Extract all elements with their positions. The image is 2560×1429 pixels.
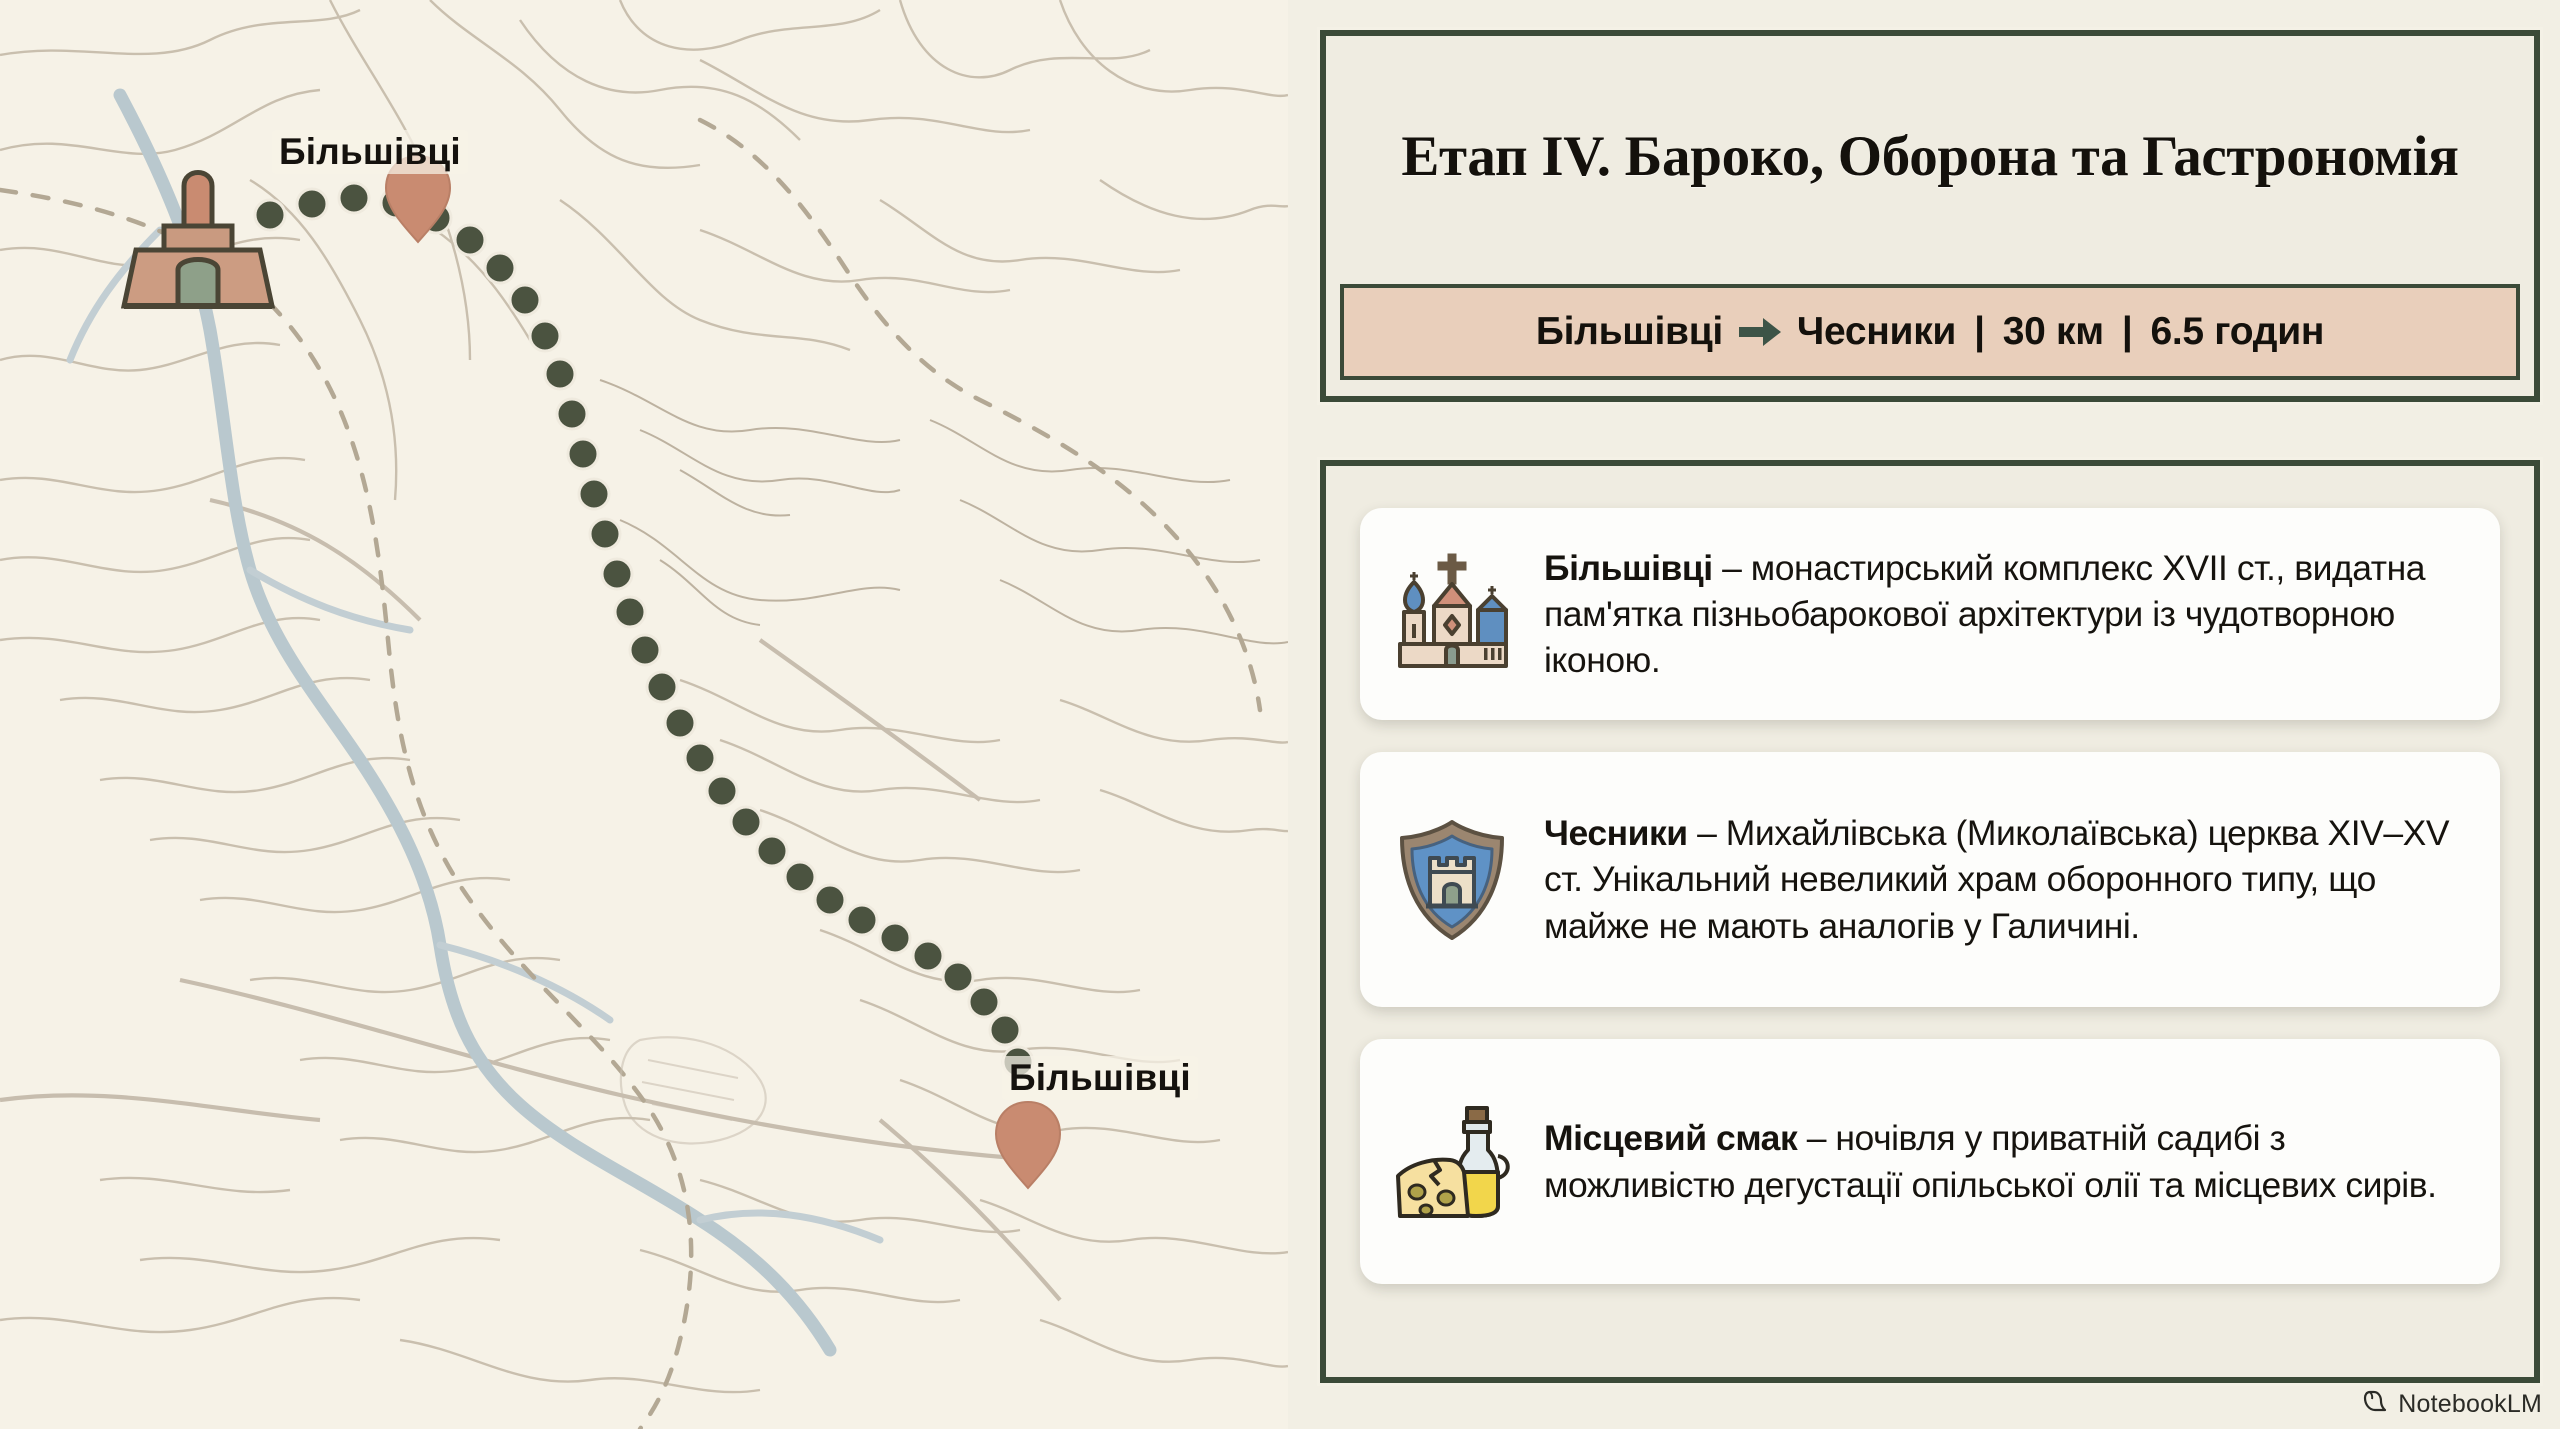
route-separator-1: | (1970, 310, 1989, 354)
highlight-card-lead: Чесники (1544, 813, 1688, 853)
highlight-card-text: Більшівці – монастирський комплекс XVII … (1544, 545, 2470, 683)
title-zone: Етап IV. Бароко, Оборона та Гастрономія (1326, 36, 2534, 278)
right-column: Етап IV. Бароко, Оборона та Гастрономія … (1310, 0, 2560, 1429)
highlight-card-lead: Місцевий смак (1544, 1118, 1797, 1158)
map-canvas: .c { fill:none; stroke:#c9bfae; stroke-w… (0, 0, 1288, 1429)
highlights-panel: Більшівці – монастирський комплекс XVII … (1320, 460, 2540, 1383)
highlight-card-bilshivtsi: Більшівці – монастирський комплекс XVII … (1360, 508, 2500, 720)
notebooklm-watermark: NotebookLM (2363, 1388, 2542, 1421)
route-summary-text: Більшівці Чесники | 30 км | 6.5 годин (1536, 310, 2324, 354)
route-summary-bar: Більшівці Чесники | 30 км | 6.5 годин (1340, 284, 2520, 380)
notebooklm-icon (2363, 1388, 2389, 1421)
notebooklm-label: NotebookLM (2398, 1390, 2542, 1419)
map-label-bilshivtsi-bottom: Більшівці (1002, 1056, 1198, 1100)
header-panel: Етап IV. Бароко, Оборона та Гастрономія … (1320, 30, 2540, 402)
arrow-right-icon (1737, 316, 1783, 348)
highlight-card-chesnyky: Чесники – Михайлівська (Миколаївська) це… (1360, 752, 2500, 1007)
infographic-slide: .c { fill:none; stroke:#c9bfae; stroke-w… (0, 0, 2560, 1429)
route-origin: Більшівці (1536, 310, 1723, 354)
route-destination: Чесники (1797, 310, 1956, 354)
cheese-oil-icon (1386, 1096, 1518, 1228)
route-distance: 30 км (2003, 310, 2104, 354)
highlight-card-text: Чесники – Михайлівська (Миколаївська) це… (1544, 810, 2470, 948)
highlight-card-lead: Більшівці (1544, 548, 1713, 588)
shield-castle-icon (1386, 814, 1518, 946)
page-title: Етап IV. Бароко, Оборона та Гастрономія (1401, 125, 2458, 189)
map-panel: .c { fill:none; stroke:#c9bfae; stroke-w… (0, 0, 1288, 1429)
highlight-card-local-taste: Місцевий смак – ночівля у приватній сади… (1360, 1039, 2500, 1284)
highlight-card-text: Місцевий смак – ночівля у приватній сади… (1544, 1115, 2470, 1207)
route-separator-2: | (2118, 310, 2137, 354)
map-label-bilshivtsi-top: Більшівці (272, 130, 468, 174)
route-duration: 6.5 годин (2150, 310, 2324, 354)
church-icon (1386, 548, 1518, 680)
